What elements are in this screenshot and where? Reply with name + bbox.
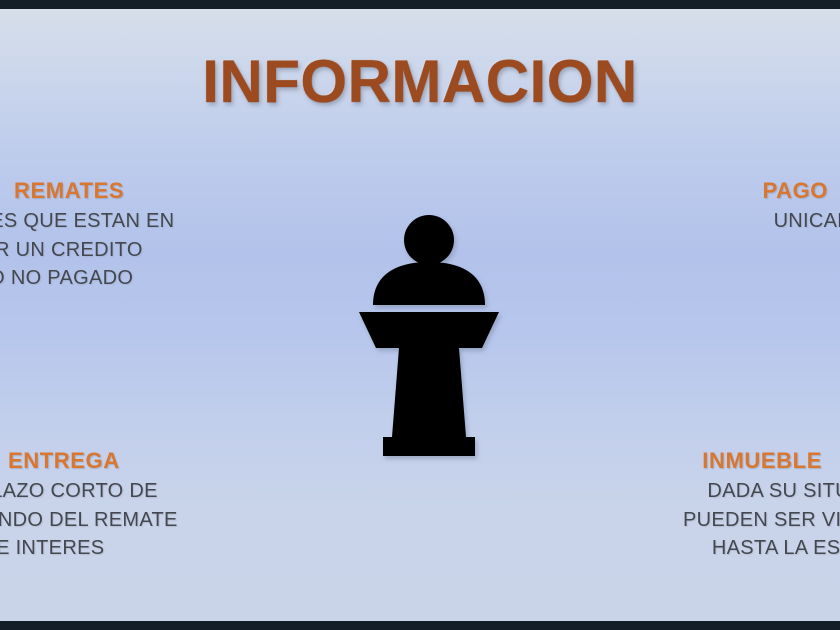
block-line: EPENDIENDO DEL REMATE — [0, 506, 178, 534]
block-line: PIEDADES QUE ESTAN EN — [0, 207, 174, 235]
block-heading-entrega: ENTREGA — [0, 448, 178, 473]
block-line: DE UN PLAZO CORTO DE — [0, 477, 178, 505]
block-line: NTIA POR UN CREDITO — [0, 236, 174, 264]
letterbox-bar-bottom — [0, 621, 840, 630]
slide-title: INFORMACION — [0, 47, 840, 116]
block-line: UNICAMENTE CON — [762, 207, 840, 235]
text-block-inmueble: INMUEBLE DADA SU SITUACION L PUEDEN SER … — [683, 448, 840, 562]
block-line: DADA SU SITUACION L — [683, 477, 840, 505]
podium-speaker-icon — [351, 209, 507, 471]
block-line: DE INTERES — [0, 534, 178, 562]
text-block-remates: REMATES PIEDADES QUE ESTAN EN NTIA POR U… — [0, 178, 174, 292]
block-heading-pago: PAGO — [762, 178, 840, 203]
presentation-slide: INFORMACION REMATES PIEDADES QUE ESTAN E… — [0, 0, 840, 630]
text-block-entrega: ENTREGA DE UN PLAZO CORTO DE EPENDIENDO … — [0, 448, 178, 562]
letterbox-bar-top — [0, 0, 840, 9]
block-line: TECARIO NO PAGADO — [0, 264, 174, 292]
block-heading-inmueble: INMUEBLE — [683, 448, 840, 473]
text-block-pago: PAGO UNICAMENTE CON — [762, 178, 840, 236]
block-line: HASTA LA ESCRITU — [683, 534, 840, 562]
block-heading-remates: REMATES — [0, 178, 174, 203]
block-line: PUEDEN SER VISTOS PO — [683, 506, 840, 534]
